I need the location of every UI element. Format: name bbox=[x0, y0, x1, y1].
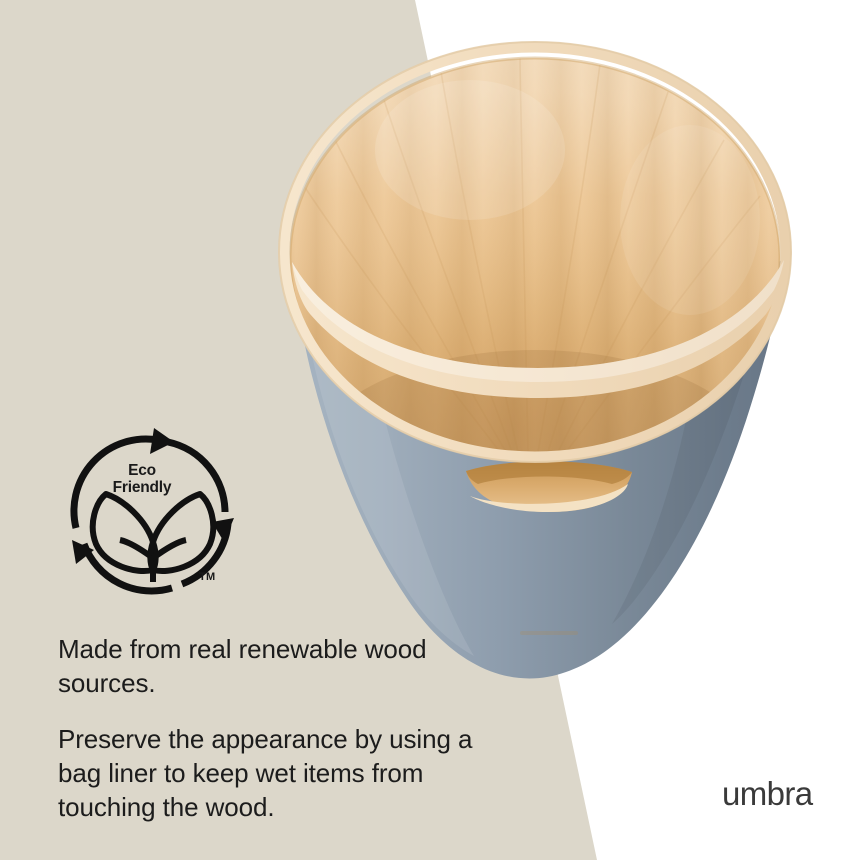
brand-logo: umbra bbox=[722, 777, 813, 810]
product-marketing-image: Eco Friendly TM Made from real renewable… bbox=[0, 0, 860, 860]
copy-paragraph-2: Preserve the appearance by using a bag l… bbox=[58, 722, 478, 824]
eco-badge-line2: Friendly bbox=[62, 479, 222, 496]
eco-friendly-badge: Eco Friendly TM bbox=[62, 424, 244, 606]
leaf-pair bbox=[93, 494, 214, 582]
marketing-copy: Made from real renewable wood sources. P… bbox=[58, 632, 478, 824]
eco-badge-line1: Eco bbox=[62, 462, 222, 479]
arrowhead-top bbox=[150, 428, 174, 454]
recycling-leaves-icon bbox=[62, 424, 244, 606]
trademark-symbol: TM bbox=[199, 571, 215, 583]
copy-paragraph-1: Made from real renewable wood sources. bbox=[58, 632, 478, 700]
eco-badge-text: Eco Friendly bbox=[62, 462, 222, 496]
